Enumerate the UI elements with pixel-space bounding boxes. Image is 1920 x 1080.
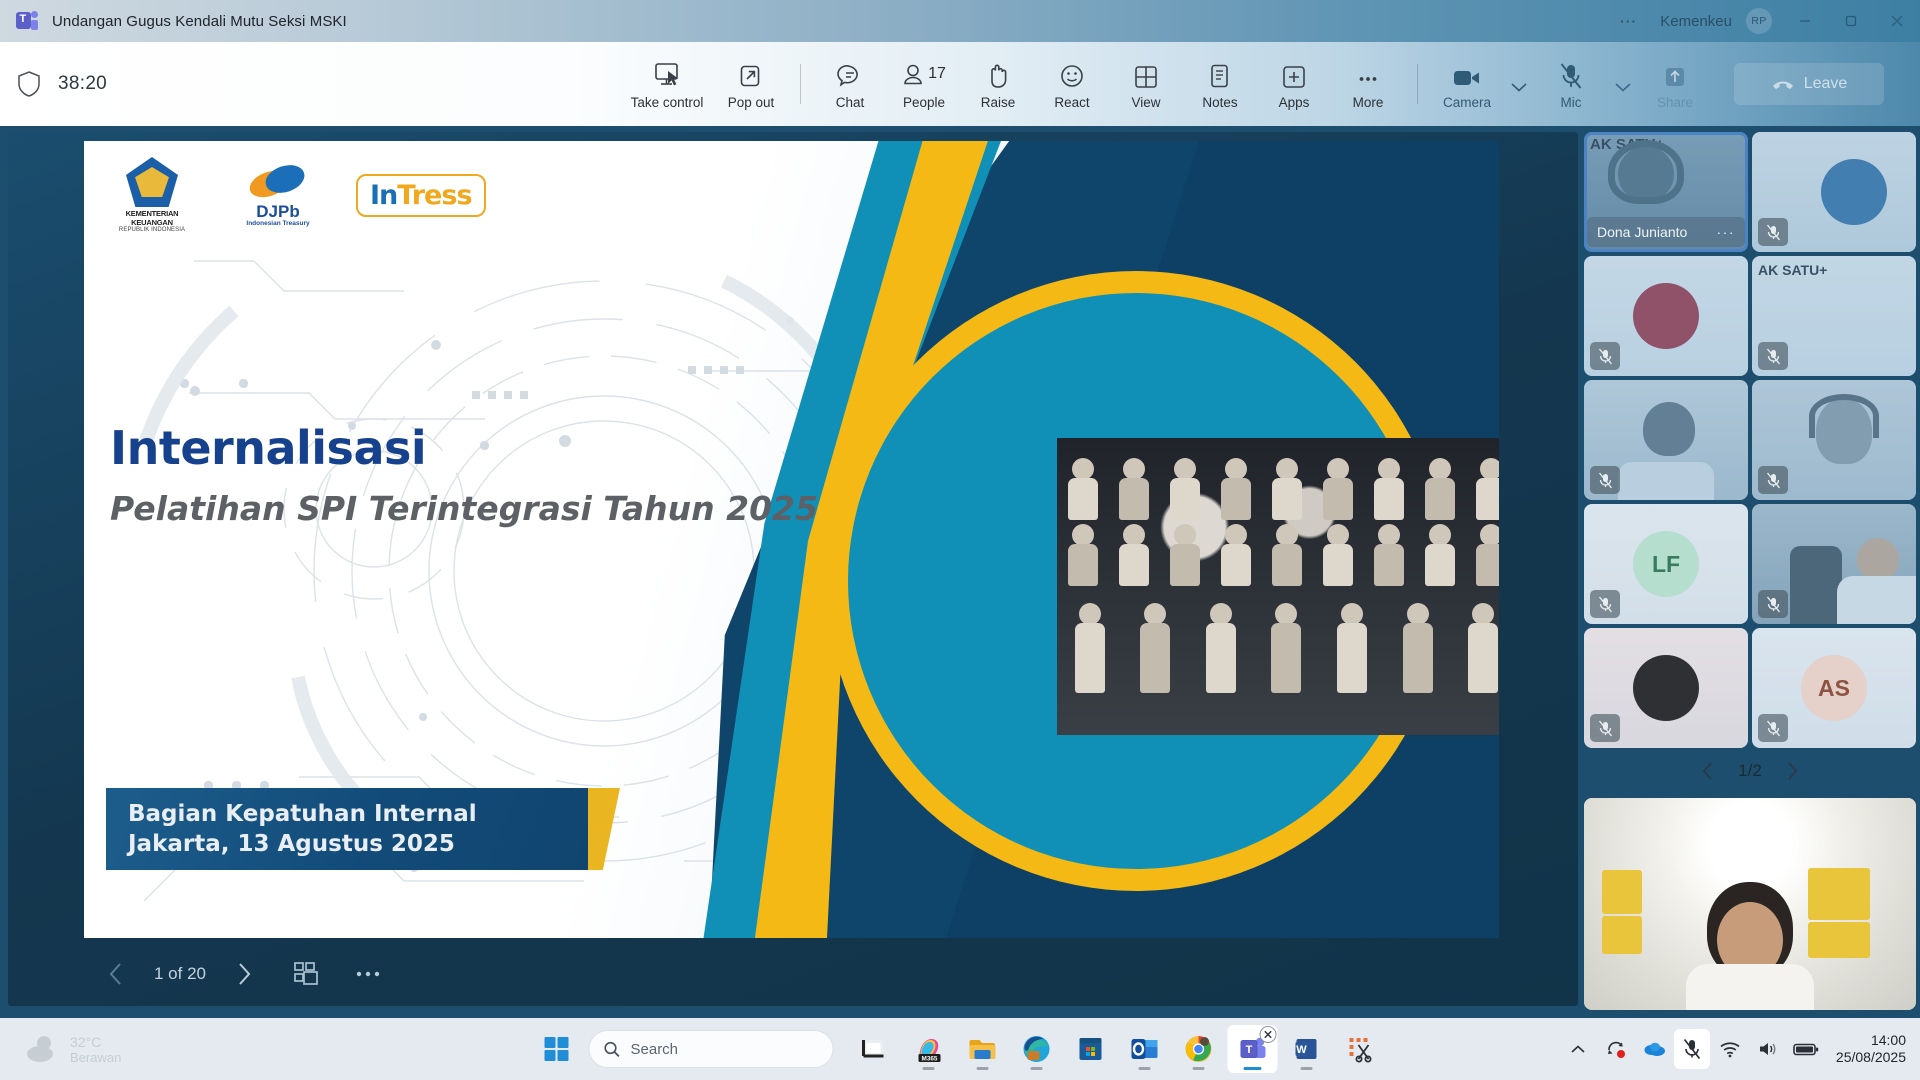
svg-text:W: W [1296,1044,1307,1056]
take-control-icon [652,58,682,90]
people-label: People [903,95,945,110]
mic-muted-icon [1758,714,1788,742]
self-view-tile[interactable] [1584,798,1916,1010]
taskbar-clock[interactable]: 14:00 25/08/2025 [1836,1032,1906,1067]
mic-label: Mic [1561,95,1582,110]
participant-tile-5[interactable] [1584,380,1748,500]
more-label: More [1353,95,1384,110]
slide-team-photo [1057,438,1499,735]
kemenkeu-logo: KEMENTERIAN KEUANGAN REPUBLIK INDONESIA [104,157,200,233]
camera-options-button[interactable] [1504,46,1534,122]
react-button[interactable]: React [1035,46,1109,122]
microsoft-teams-icon[interactable]: T [1228,1025,1278,1073]
cloud-icon [26,1035,60,1063]
apps-button[interactable]: Apps [1257,46,1331,122]
wifi-icon[interactable] [1712,1029,1748,1069]
intress-logo-part1: In [370,180,397,211]
slide-more-button[interactable] [346,952,390,996]
google-chrome-icon[interactable] [1174,1025,1224,1073]
raise-hand-label: Raise [981,95,1016,110]
intress-logo: InTress [356,174,486,217]
kemenkeu-logo-line2: REPUBLIK INDONESIA [104,227,200,233]
slide-subtitle: Pelatihan SPI Terintegrasi Tahun 2025 [110,489,818,528]
pop-out-label: Pop out [728,95,775,110]
file-explorer-icon[interactable] [958,1025,1008,1073]
pop-out-icon [737,58,765,90]
mic-muted-icon [1558,58,1584,90]
slide-navigation: 1 of 20 [94,952,390,996]
take-control-label: Take control [631,95,704,110]
participant-pager: 1/2 [1584,748,1916,794]
slide-next-button[interactable] [222,952,266,996]
djpb-logo-title: DJPb [230,203,326,220]
maximize-button[interactable] [1828,0,1874,42]
people-count-badge: 17 [928,65,946,83]
toolbar-divider-2 [1417,64,1418,104]
minimize-button[interactable] [1782,0,1828,42]
share-button[interactable]: Share [1638,46,1712,122]
battery-icon[interactable] [1788,1029,1824,1069]
chat-label: Chat [836,95,865,110]
onedrive-icon[interactable] [1636,1029,1672,1069]
sync-recording-icon[interactable] [1598,1029,1634,1069]
toolbar-divider [800,64,801,104]
view-grid-icon [1133,58,1159,90]
participant-tile-8[interactable] [1752,504,1916,624]
teams-icon [16,10,38,32]
share-up-icon [1662,58,1688,90]
meeting-toolbar: 38:20 Take control [0,42,1920,126]
svg-text:T: T [1246,1044,1253,1056]
pager-next-button[interactable] [1784,760,1800,782]
mic-button[interactable]: Mic [1534,46,1608,122]
leave-button[interactable]: Leave [1734,63,1884,105]
participant-tile-dona-junianto[interactable]: AK SATU+ Dona Junianto ··· [1584,132,1748,252]
chevron-left-icon [106,960,126,988]
raise-hand-icon [985,58,1011,90]
participant-tile-2[interactable] [1752,132,1916,252]
participant-tile-6[interactable] [1752,380,1916,500]
apps-label: Apps [1279,95,1310,110]
tile-more-icon[interactable]: ··· [1717,224,1736,240]
organization-label: Kemenkeu [1652,13,1740,30]
notes-icon [1208,58,1232,90]
system-tray: 14:00 25/08/2025 [1560,1018,1920,1080]
close-badge[interactable] [1260,1026,1277,1043]
microsoft-word-icon[interactable]: W [1282,1025,1332,1073]
participant-rail: AK SATU+ Dona Junianto ··· [1584,132,1916,1006]
avatar[interactable]: RP [1746,8,1772,34]
close-button[interactable] [1874,0,1920,42]
search-input[interactable]: Search [589,1030,834,1068]
mic-muted-icon[interactable] [1674,1029,1710,1069]
outlook-icon[interactable] [1120,1025,1170,1073]
mic-muted-icon [1590,714,1620,742]
mic-options-button[interactable] [1608,46,1638,122]
participant-tile-3[interactable] [1584,256,1748,376]
more-options-icon[interactable]: ⋯ [1605,13,1652,30]
volume-icon[interactable] [1750,1029,1786,1069]
participant-grid: AK SATU+ Dona Junianto ··· [1584,132,1916,748]
window-title: Undangan Gugus Kendali Mutu Seksi MSKI [52,13,347,30]
search-placeholder: Search [631,1041,679,1058]
presentation-slide[interactable]: KEMENTERIAN KEUANGAN REPUBLIK INDONESIA … [84,141,1499,938]
camera-button[interactable]: Camera [1430,46,1504,122]
people-button[interactable]: 17 People [887,46,961,122]
pager-prev-button[interactable] [1700,760,1716,782]
chevron-down-icon [1510,81,1528,93]
more-dots-icon [1355,58,1381,90]
more-dots-icon [355,969,381,979]
hangup-icon [1771,76,1795,92]
mic-muted-icon [1590,590,1620,618]
notes-label: Notes [1202,95,1237,110]
chevron-right-icon [234,960,254,988]
microsoft-edge-icon[interactable] [1012,1025,1062,1073]
view-label: View [1131,95,1160,110]
slide-title: Internalisasi [110,421,426,475]
teams-meeting-window: Undangan Gugus Kendali Mutu Seksi MSKI ⋯… [0,0,1920,1080]
participant-tile-9[interactable] [1584,628,1748,748]
people-icon: 17 [902,58,946,90]
svg-text:M365: M365 [922,1055,938,1062]
pager-label: 1/2 [1738,761,1762,781]
apps-plus-icon [1281,58,1307,90]
weather-widget[interactable]: 32°C Berawan [0,1018,175,1080]
slide-banner-line1: Bagian Kepatuhan Internal [128,799,588,829]
react-label: React [1054,95,1089,110]
participant-tile-as[interactable]: AS [1752,628,1916,748]
show-hidden-icons-chevron[interactable] [1560,1029,1596,1069]
mic-muted-icon [1758,590,1788,618]
weather-temp: 32°C [70,1034,121,1050]
pop-out-button[interactable]: Pop out [714,46,788,122]
mic-muted-icon [1758,466,1788,494]
windows-start-icon[interactable] [535,1027,579,1071]
share-label: Share [1657,95,1693,110]
intress-logo-part2: Tre [397,180,441,211]
meeting-timer: 38:20 [58,73,107,95]
clock-time: 14:00 [1836,1032,1906,1050]
djpb-logo: DJPb Indonesian Treasury [230,164,326,227]
intress-logo-part3: ss [441,180,471,211]
microsoft-365-icon[interactable]: M365 [904,1025,954,1073]
react-icon [1058,58,1086,90]
raise-hand-button[interactable]: Raise [961,46,1035,122]
slide-banner: Bagian Kepatuhan Internal Jakarta, 13 Ag… [106,788,588,870]
djpb-logo-sub: Indonesian Treasury [230,220,326,227]
shared-content-stage: KEMENTERIAN KEUANGAN REPUBLIK INDONESIA … [8,132,1578,1006]
slide-counter: 1 of 20 [144,964,216,984]
more-button[interactable]: More [1331,46,1405,122]
clock-date: 25/08/2025 [1836,1049,1906,1067]
slide-layout-button[interactable] [284,952,328,996]
taskbar-center: Search M365 [535,1025,1386,1073]
camera-label: Camera [1443,95,1491,110]
leave-label: Leave [1804,75,1848,93]
tile-name-bar[interactable]: Dona Junianto ··· [1587,217,1745,247]
take-control-button[interactable]: Take control [620,46,714,122]
search-icon [604,1041,621,1058]
slide-logos: KEMENTERIAN KEUANGAN REPUBLIK INDONESIA … [104,157,486,233]
slide-layout-icon [293,961,319,987]
microsoft-store-icon[interactable] [1066,1025,1116,1073]
participant-tile-4[interactable]: AK SATU+ [1752,256,1916,376]
windows-taskbar: 32°C Berawan Search [0,1018,1920,1080]
chat-icon [836,58,864,90]
participant-tile-lf[interactable]: LF [1584,504,1748,624]
view-button[interactable]: View [1109,46,1183,122]
mic-muted-icon [1758,218,1788,246]
task-view-icon[interactable] [850,1025,900,1073]
chevron-down-icon [1614,81,1632,93]
camera-icon [1451,58,1483,90]
mic-muted-icon [1758,342,1788,370]
slide-banner-line2: Jakarta, 13 Agustus 2025 [128,829,588,859]
notes-button[interactable]: Notes [1183,46,1257,122]
weather-condition: Berawan [70,1050,121,1065]
shield-icon [16,70,42,98]
kemenkeu-logo-line1: KEMENTERIAN KEUANGAN [104,209,200,227]
chat-button[interactable]: Chat [813,46,887,122]
title-bar: Undangan Gugus Kendali Mutu Seksi MSKI ⋯… [0,0,1920,42]
mic-muted-icon [1590,342,1620,370]
slide-prev-button[interactable] [94,952,138,996]
snipping-tool-icon[interactable] [1336,1025,1386,1073]
mic-muted-icon [1590,466,1620,494]
participant-name: Dona Junianto [1597,224,1687,240]
